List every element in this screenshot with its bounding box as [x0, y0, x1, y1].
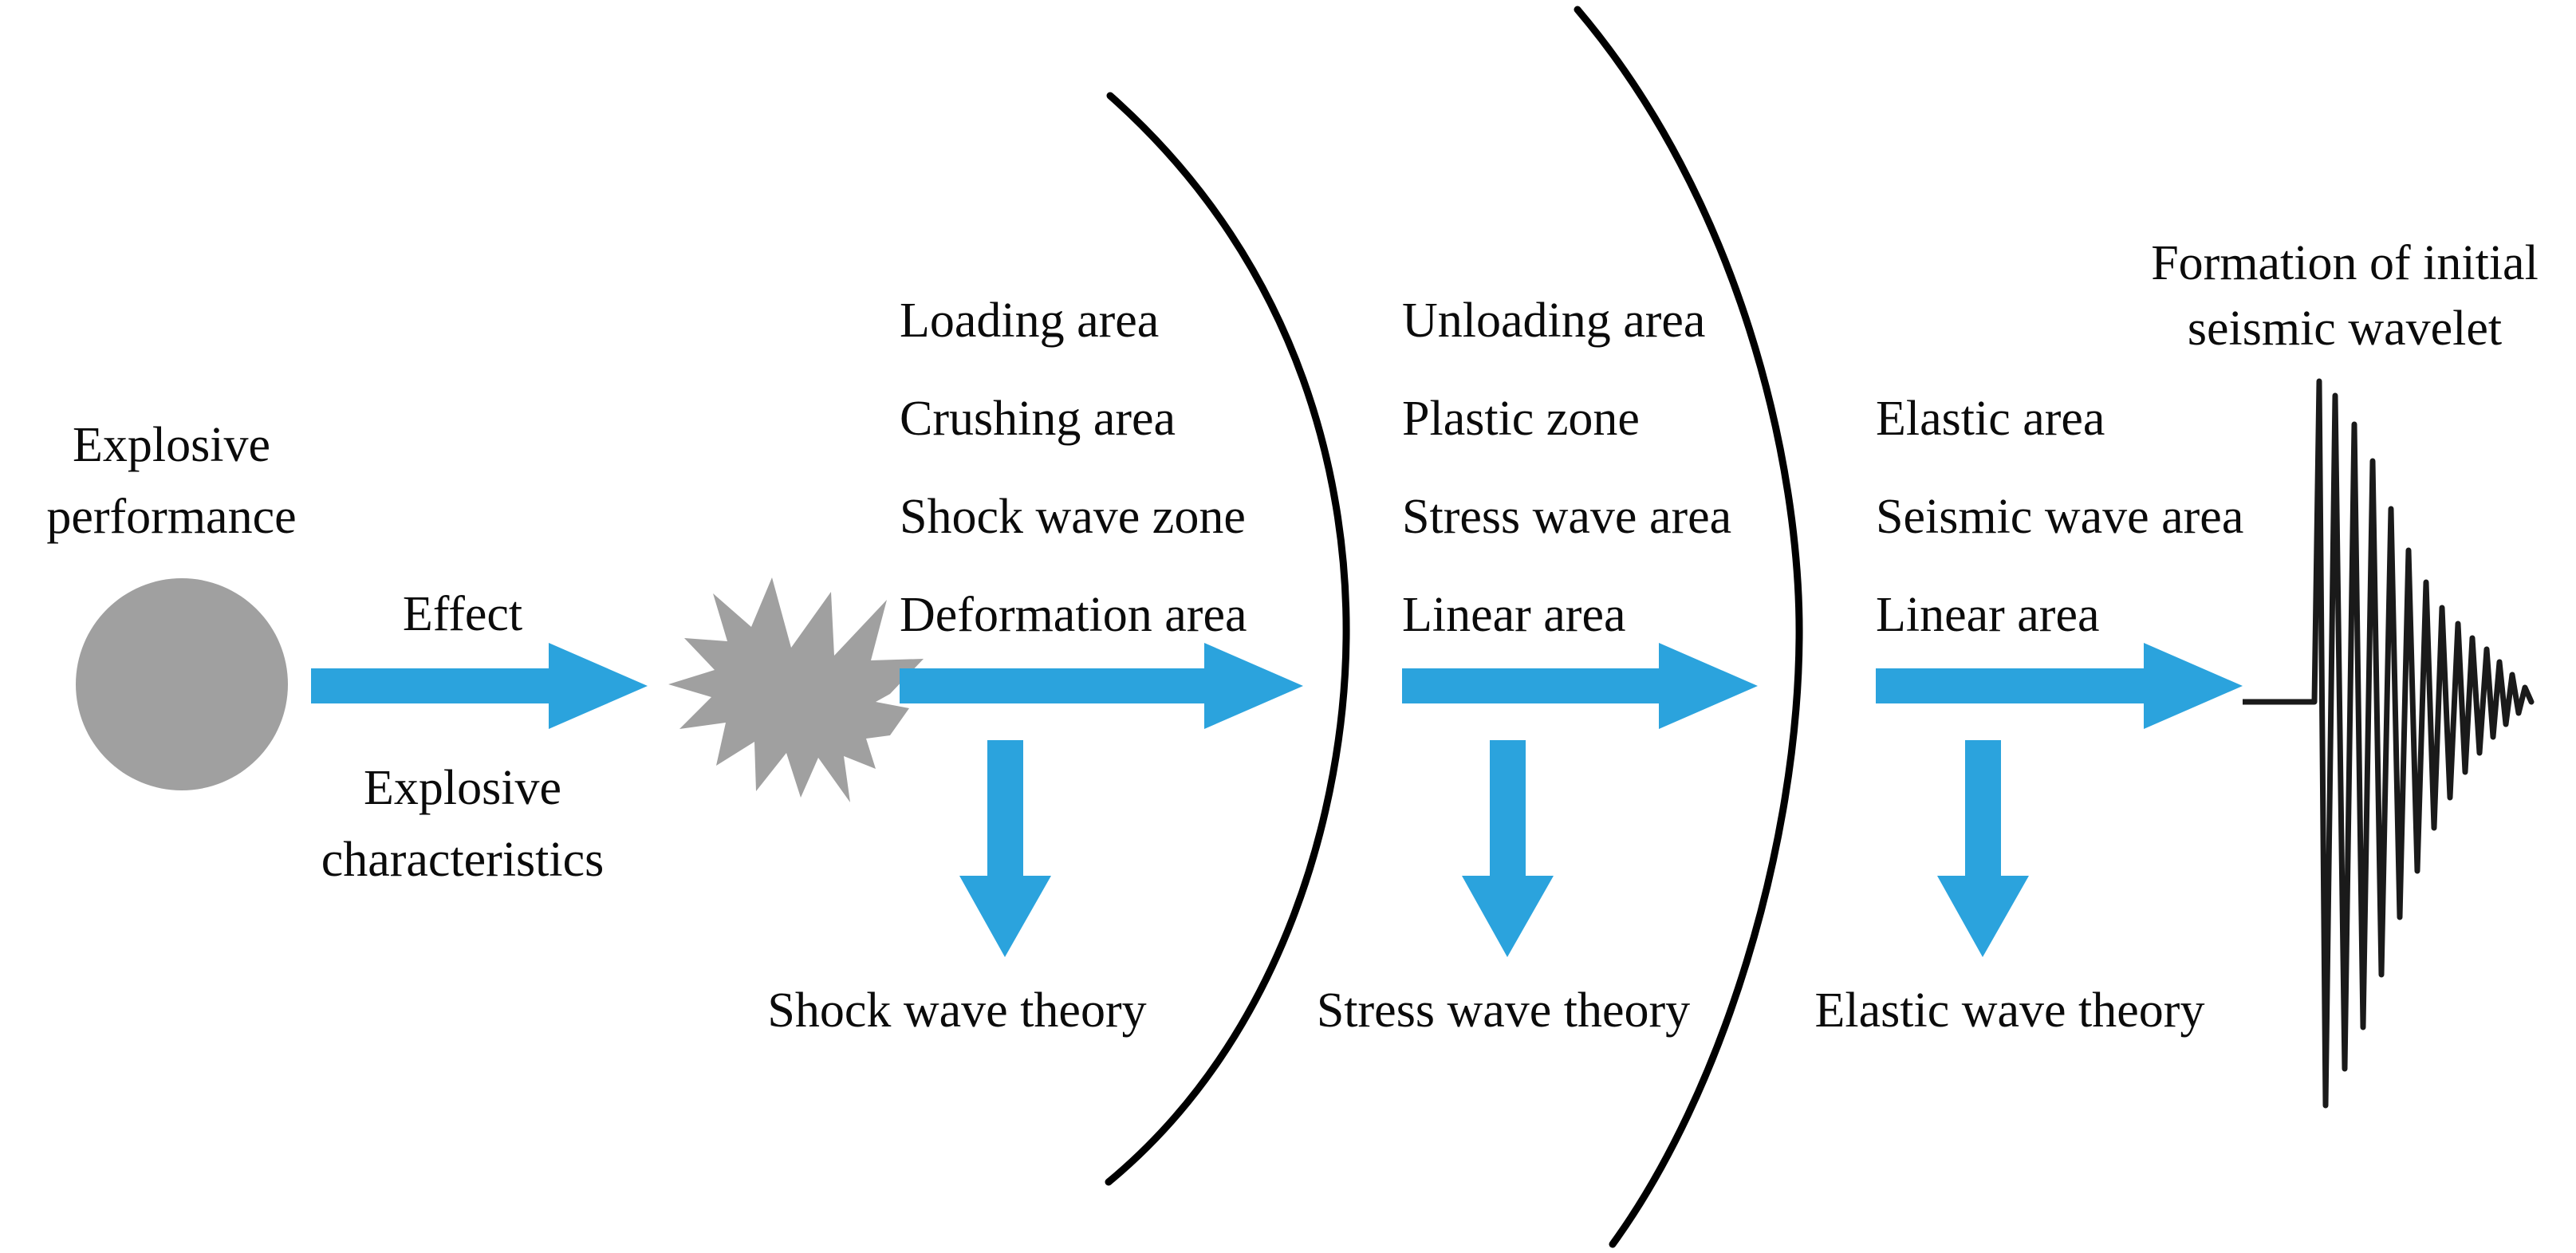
zone-stress-item-3: Linear area [1402, 588, 1625, 642]
arrow-zone-stress-right [1402, 643, 1758, 729]
zone-stress-item-0: Unloading area [1402, 294, 1705, 348]
source-label-line1: Explosive [73, 418, 270, 472]
zone-stress-item-2: Stress wave area [1402, 490, 1731, 544]
arrow1-label-below-line1: Explosive [364, 761, 561, 815]
arrow1-label-below-line2: characteristics [321, 833, 605, 887]
arrow-zone-elastic-down [1937, 740, 2029, 957]
arrow-zone-shock-down [959, 740, 1051, 957]
zone-elastic-item-0: Elastic area [1876, 392, 2105, 446]
explosion-seismic-wave-diagram: Explosive performance Effect Explosive c… [0, 0, 2576, 1253]
zone-shock-item-0: Loading area [900, 294, 1159, 348]
explosion-burst-icon [668, 577, 924, 802]
zone-elastic-item-1: Seismic wave area [1876, 490, 2243, 544]
arrow-zone-stress-down [1462, 740, 1554, 957]
zone-shock-item-2: Shock wave zone [900, 490, 1246, 544]
zone-shock-theory: Shock wave theory [767, 983, 1146, 1038]
zone-elastic-item-2: Linear area [1876, 588, 2099, 642]
output-label-line2: seismic wavelet [2188, 301, 2502, 356]
arrow-zone-shock-right [900, 643, 1303, 729]
source-label-line2: performance [46, 490, 296, 544]
zone-stress-theory: Stress wave theory [1317, 983, 1690, 1038]
output-label-line1: Formation of initial [2151, 236, 2539, 290]
diagram-canvas: Explosive performance Effect Explosive c… [0, 0, 2576, 1253]
seismic-wavelet-icon [2243, 381, 2531, 1105]
wavelet-trace [2314, 381, 2531, 1105]
zone-shock-item-1: Crushing area [900, 392, 1176, 446]
zone-stress-item-1: Plastic zone [1402, 392, 1640, 446]
arrow-effect-to-burst [311, 643, 648, 729]
explosive-source-circle [76, 578, 288, 790]
arrow1-label-above: Effect [403, 587, 522, 641]
arrow-zone-elastic-right [1876, 643, 2243, 729]
zone-elastic-theory: Elastic wave theory [1815, 983, 2205, 1038]
zone-shock-item-3: Deformation area [900, 588, 1247, 642]
